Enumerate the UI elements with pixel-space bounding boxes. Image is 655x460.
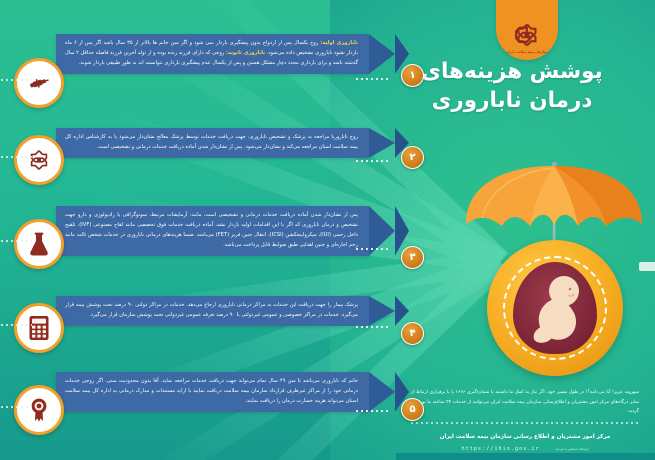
- logo-caption: سازمان بیمه سلامت ایران: [507, 50, 548, 54]
- seal-stamp-icon-bubble[interactable]: [14, 385, 64, 435]
- item-1-panel: ناباروری اولیه: زوج یکسال پس از ازدواج ب…: [56, 34, 369, 74]
- item-4-connector-dots-right: [356, 326, 390, 328]
- page-title-line1: پوشش هزینه‌های: [421, 59, 602, 84]
- item-1-connector-dots: [0, 79, 32, 81]
- item-5-number-badge[interactable]: ۵: [401, 398, 424, 421]
- item-2-connector-dots-right: [356, 160, 390, 162]
- organization-logo-icon: [27, 148, 51, 172]
- item-3-number-badge[interactable]: ۳: [401, 246, 424, 269]
- item-4-connector-dots: [0, 324, 32, 326]
- womb-shape: [513, 262, 597, 354]
- footer-url-row: ارتباط مستمر با مردم https://ihio.gov.ir: [411, 446, 639, 452]
- item-5-text: خانم که ناباروری می‌باشد تا سن ۴۹ سال تم…: [65, 378, 358, 404]
- item-3-connector-dots-right: [356, 248, 390, 250]
- flask-icon-bubble[interactable]: [14, 219, 64, 269]
- infographic-root: سازمان بیمه سلامت ایران پوشش هزینه‌های د…: [0, 0, 655, 460]
- footer-divider: [411, 422, 639, 424]
- item-5-connector-dots-right: [356, 410, 390, 412]
- calculator-icon-bubble[interactable]: [14, 303, 64, 353]
- seal-stamp-icon: [27, 397, 51, 423]
- footer-note: شهروند عزیز! آیا می‌دانید؟! در طول مسیر …: [411, 388, 639, 416]
- item-5-panel: خانم که ناباروری می‌باشد تا سن ۴۹ سال تم…: [56, 372, 369, 412]
- item-3-text: پس از نشان‌دار شدن آماده دریافت خدمات در…: [65, 212, 358, 248]
- item-5-connector-dots: [0, 406, 32, 408]
- item-4-text: پزشک بیمار را جهت دریافت این خدمات به مر…: [65, 302, 358, 318]
- item-4-number-badge[interactable]: ۴: [401, 322, 424, 345]
- item-1-number-badge[interactable]: ۱: [401, 64, 424, 87]
- item-2-text: زوج ناباروربا مراجعه به پزشک و تشخیص ناب…: [65, 134, 358, 150]
- item-2-number-badge[interactable]: ۲: [401, 146, 424, 169]
- fetus-illustration: [487, 240, 623, 376]
- flask-icon: [27, 231, 51, 257]
- fetus-dashed-ring: [503, 256, 607, 360]
- footer-subtitle: ارتباط مستمر با مردم: [556, 447, 589, 451]
- item-3-connector-dots: [0, 240, 32, 242]
- item-1-highlight-1: ناباروری اولیه:: [320, 40, 358, 46]
- item-2-connector-dots: [0, 156, 32, 158]
- footer-bar: [396, 453, 655, 460]
- calculator-icon: [28, 315, 50, 341]
- item-3-panel: پس از نشان‌دار شدن آماده دریافت خدمات در…: [56, 206, 369, 256]
- organization-logo-tab: سازمان بیمه سلامت ایران: [496, 0, 558, 60]
- item-4-panel: پزشک بیمار را جهت دریافت این خدمات به مر…: [56, 296, 369, 326]
- fetus-icon: [524, 269, 586, 347]
- footer-organization: مرکز امور مشتریان و اطلاع رسانی سازمان ب…: [411, 434, 639, 440]
- item-1-highlight-2: ناباروری ثانویه:: [226, 50, 265, 56]
- organization-logo-icon: [514, 22, 540, 48]
- syringe-icon-bubble[interactable]: [14, 58, 64, 108]
- item-1-connector-dots-right: [356, 78, 390, 80]
- syringe-icon: [26, 70, 52, 96]
- page-title-line2: درمان ناباروری: [377, 87, 647, 116]
- item-2-panel: زوج ناباروربا مراجعه به پزشک و تشخیص ناب…: [56, 128, 369, 158]
- footer-url[interactable]: https://ihio.gov.ir: [462, 446, 540, 452]
- organization-logo-icon-bubble[interactable]: [14, 135, 64, 185]
- decor-strip: [639, 262, 655, 271]
